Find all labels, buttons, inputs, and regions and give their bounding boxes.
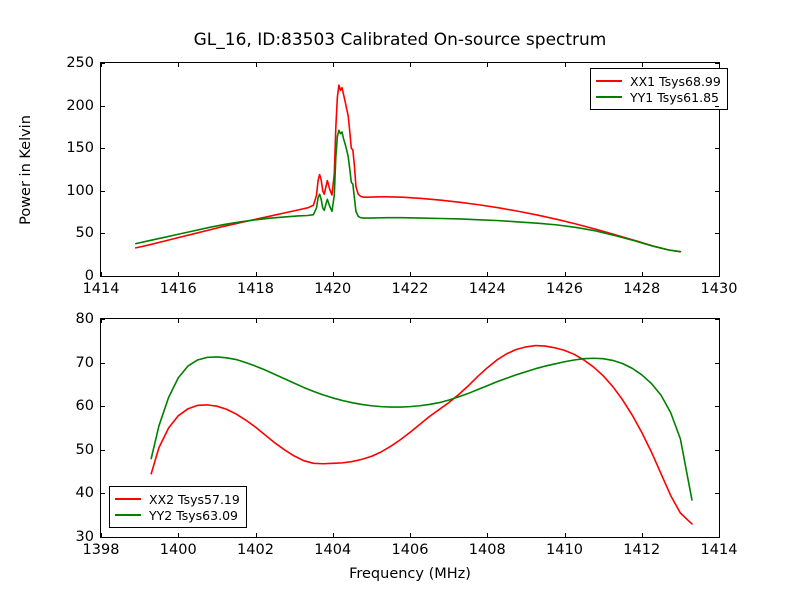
y-tick-label: 150: [66, 140, 94, 156]
y-tick-mark: [101, 406, 105, 407]
x-tick-mark: [101, 533, 102, 537]
x-tick-mark: [487, 272, 488, 276]
y-tick-mark: [101, 106, 105, 107]
bottom-plot-legend: XX2 Tsys57.19YY2 Tsys63.09: [109, 486, 247, 528]
x-tick-mark: [256, 63, 257, 67]
x-tick-label: 1406: [392, 542, 429, 558]
y-tick-mark: [715, 537, 719, 538]
x-tick-mark: [719, 63, 720, 67]
x-tick-mark: [101, 63, 102, 67]
legend-entry: YY1 Tsys61.85: [596, 89, 721, 105]
y-tick-label: 200: [66, 98, 94, 114]
x-tick-mark: [642, 533, 643, 537]
x-tick-mark: [256, 533, 257, 537]
y-tick-label: 60: [76, 398, 94, 414]
x-tick-mark: [410, 272, 411, 276]
x-tick-mark: [333, 63, 334, 67]
x-tick-mark: [333, 533, 334, 537]
y-tick-mark: [715, 233, 719, 234]
x-tick-mark: [642, 272, 643, 276]
y-tick-mark: [715, 276, 719, 277]
y-tick-label: 40: [76, 485, 94, 501]
x-tick-label: 1410: [546, 542, 583, 558]
x-tick-mark: [565, 319, 566, 323]
y-tick-label: 50: [76, 442, 94, 458]
x-tick-label: 1400: [160, 542, 197, 558]
x-tick-label: 1422: [392, 281, 429, 297]
top-plot-axes: XX1 Tsys68.99YY1 Tsys61.85 0501001502002…: [100, 62, 720, 277]
y-tick-mark: [101, 363, 105, 364]
y-tick-label: 50: [76, 225, 94, 241]
y-tick-mark: [101, 233, 105, 234]
y-tick-mark: [715, 363, 719, 364]
y-tick-mark: [715, 493, 719, 494]
legend-color-swatch: [596, 96, 622, 98]
x-tick-mark: [256, 319, 257, 323]
x-tick-label: 1426: [546, 281, 583, 297]
x-tick-mark: [101, 272, 102, 276]
y-tick-mark: [101, 191, 105, 192]
x-tick-mark: [487, 533, 488, 537]
y-tick-label: 100: [66, 183, 94, 199]
legend-label: YY1 Tsys61.85: [630, 90, 719, 105]
legend-color-swatch: [115, 498, 141, 500]
x-tick-mark: [487, 319, 488, 323]
page-title: GL_16, ID:83503 Calibrated On-source spe…: [0, 30, 800, 50]
x-tick-label: 1428: [623, 281, 660, 297]
x-tick-label: 1416: [160, 281, 197, 297]
x-tick-label: 1414: [701, 542, 738, 558]
y-tick-mark: [715, 406, 719, 407]
y-tick-mark: [101, 276, 105, 277]
y-tick-mark: [101, 450, 105, 451]
x-tick-label: 1412: [623, 542, 660, 558]
x-tick-mark: [565, 533, 566, 537]
y-tick-mark: [101, 148, 105, 149]
legend-entry: YY2 Tsys63.09: [115, 507, 240, 523]
y-tick-mark: [715, 191, 719, 192]
legend-label: YY2 Tsys63.09: [149, 508, 238, 523]
x-tick-mark: [256, 272, 257, 276]
legend-label: XX1 Tsys68.99: [630, 74, 721, 89]
bottom-plot-axes: XX2 Tsys57.19YY2 Tsys63.09 3040506070801…: [100, 318, 720, 538]
y-tick-mark: [101, 493, 105, 494]
y-tick-label: 70: [76, 355, 94, 371]
x-tick-mark: [410, 533, 411, 537]
legend-entry: XX2 Tsys57.19: [115, 491, 240, 507]
x-tick-mark: [719, 272, 720, 276]
x-tick-label: 1430: [701, 281, 738, 297]
x-tick-mark: [719, 319, 720, 323]
x-tick-label: 1418: [237, 281, 274, 297]
x-tick-label: 1424: [469, 281, 506, 297]
x-tick-mark: [642, 63, 643, 67]
y-tick-mark: [715, 148, 719, 149]
x-tick-mark: [642, 319, 643, 323]
legend-entry: XX1 Tsys68.99: [596, 73, 721, 89]
x-tick-mark: [101, 319, 102, 323]
x-tick-mark: [565, 272, 566, 276]
x-tick-label: 1420: [314, 281, 351, 297]
series-line: [136, 85, 681, 252]
x-tick-mark: [565, 63, 566, 67]
x-tick-label: 1404: [314, 542, 351, 558]
x-tick-mark: [333, 272, 334, 276]
legend-color-swatch: [115, 514, 141, 516]
x-tick-label: 1408: [469, 542, 506, 558]
x-tick-label: 1402: [237, 542, 274, 558]
y-tick-label: 250: [66, 55, 94, 71]
legend-label: XX2 Tsys57.19: [149, 492, 240, 507]
y-tick-label: 80: [76, 311, 94, 327]
x-tick-mark: [487, 63, 488, 67]
x-tick-mark: [178, 319, 179, 323]
bottom-plot-x-axis-label: Frequency (MHz): [349, 566, 471, 582]
x-tick-mark: [178, 63, 179, 67]
y-tick-mark: [715, 450, 719, 451]
x-tick-label: 1398: [83, 542, 120, 558]
series-line: [136, 130, 681, 251]
top-plot-y-axis-label: Power in Kelvin: [18, 115, 34, 225]
top-plot-legend: XX1 Tsys68.99YY1 Tsys61.85: [590, 68, 728, 110]
y-tick-mark: [715, 106, 719, 107]
x-tick-mark: [178, 533, 179, 537]
spectrum-figure: GL_16, ID:83503 Calibrated On-source spe…: [0, 0, 800, 600]
legend-color-swatch: [596, 80, 622, 82]
x-tick-mark: [410, 63, 411, 67]
x-tick-mark: [333, 319, 334, 323]
series-line: [151, 357, 692, 500]
y-tick-mark: [101, 537, 105, 538]
x-tick-mark: [410, 319, 411, 323]
x-tick-mark: [719, 533, 720, 537]
x-tick-mark: [178, 272, 179, 276]
x-tick-label: 1414: [83, 281, 120, 297]
